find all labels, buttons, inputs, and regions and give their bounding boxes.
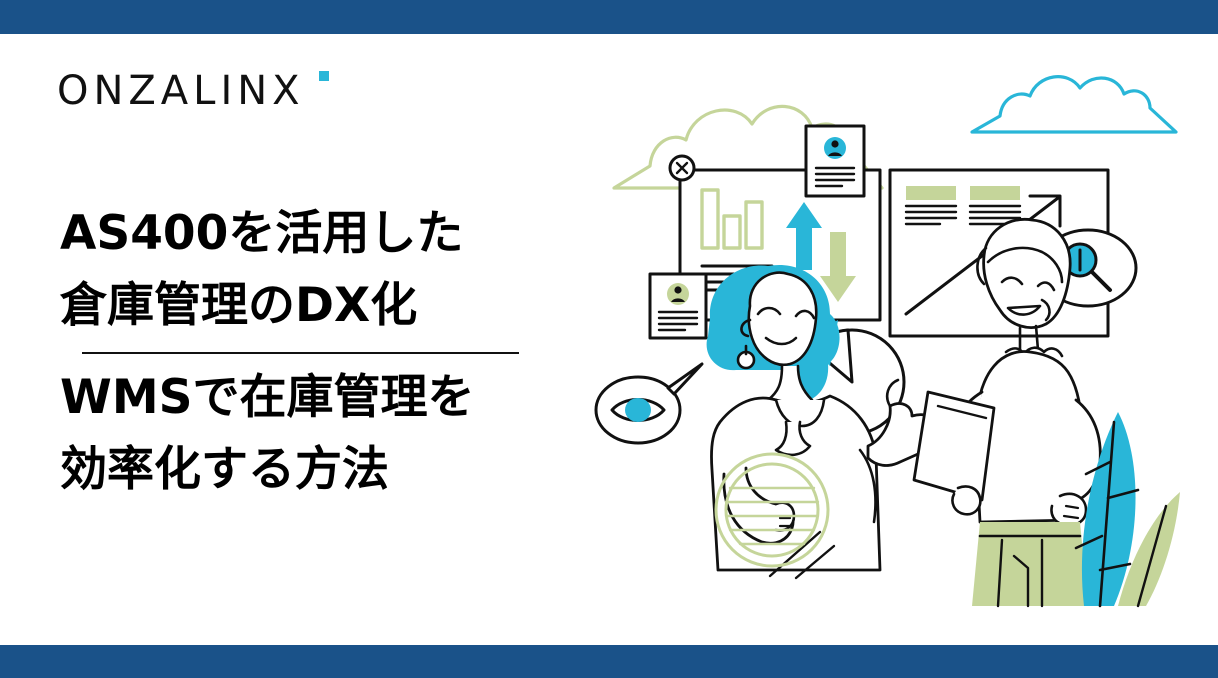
illustration <box>590 70 1210 610</box>
logo-wordmark: ONZALINX <box>57 68 357 114</box>
slide-canvas: ONZALINX AS400を活用した 倉庫管理のDX化 WMSで在庫管理を 効… <box>0 0 1218 678</box>
page-title: AS400を活用した 倉庫管理のDX化 WMSで在庫管理を 効率化する方法 <box>60 198 560 506</box>
eye-speech-bubble <box>596 364 702 443</box>
profile-card-green-avatar <box>650 274 706 338</box>
subtitle-line-2: 効率化する方法 <box>60 434 560 506</box>
title-divider <box>82 352 519 354</box>
top-band <box>0 0 1218 34</box>
cloud-outline-cyan-icon <box>972 77 1176 132</box>
brand-logo: ONZALINX <box>57 68 357 120</box>
profile-card-cyan-avatar <box>806 126 864 196</box>
title-line-1: AS400を活用した <box>60 198 560 270</box>
bottom-band <box>0 645 1218 678</box>
subtitle-line-1: WMSで在庫管理を <box>60 362 560 434</box>
title-line-2: 倉庫管理のDX化 <box>60 270 560 342</box>
logo-square-accent-icon <box>319 71 329 81</box>
